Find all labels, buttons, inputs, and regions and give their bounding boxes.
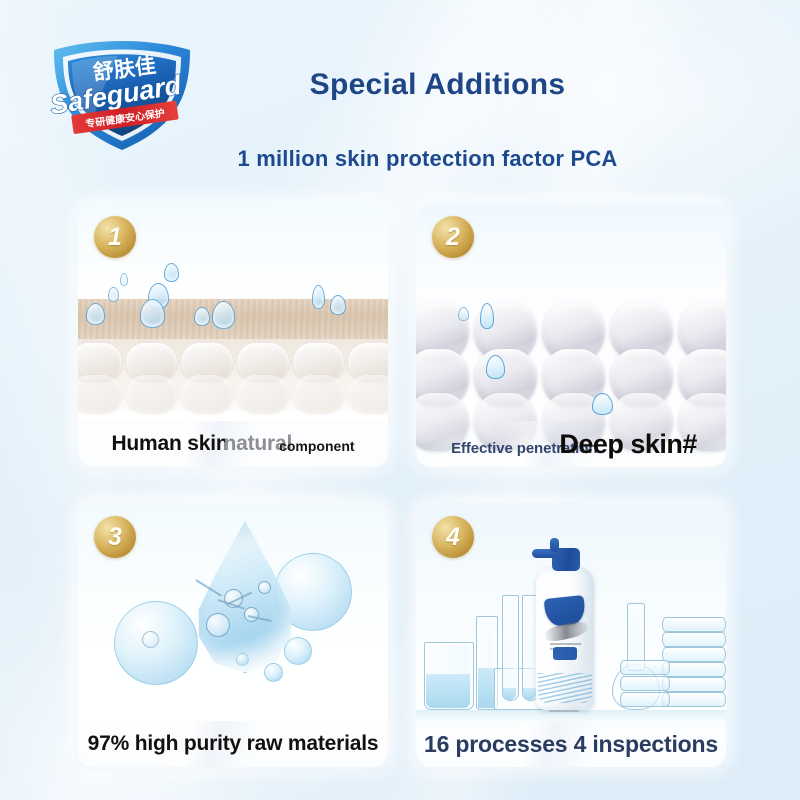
caption-primary: Deep skin#	[559, 429, 697, 460]
card-caption-bar: Human skin natural component	[78, 421, 388, 467]
card-number-badge: 3	[94, 516, 136, 558]
feature-card-grid: 1 Human skin natural component	[78, 203, 726, 751]
caption-primary: Human skin	[111, 432, 228, 456]
caption-primary: 16 processes 4 inspections	[424, 731, 718, 758]
feature-card-3[interactable]: 3 97% high purity raw materials	[78, 503, 388, 767]
card-caption-bar: Effective penetration Deep skin#	[416, 421, 726, 467]
feature-card-1[interactable]: 1 Human skin natural component	[78, 203, 388, 467]
card-number-badge: 4	[432, 516, 474, 558]
product-infographic-page: 舒肤佳 Safeguard 专研健康安心保护 Special Additions…	[0, 0, 800, 800]
test-tube-icon	[502, 595, 519, 701]
caption-tertiary: component	[279, 438, 354, 454]
card-caption-bar: 16 processes 4 inspections	[416, 721, 726, 767]
card-number-badge: 2	[432, 216, 474, 258]
feature-card-2[interactable]: 2 Effective penetration Deep skin#	[416, 203, 726, 467]
page-subtitle: 1 million skin protection factor PCA	[0, 146, 800, 172]
card-number-badge: 1	[94, 216, 136, 258]
petri-dish-icon	[662, 692, 726, 707]
caption-primary: 97% high purity raw materials	[88, 732, 379, 756]
card-caption-bar: 97% high purity raw materials	[78, 721, 388, 767]
feature-card-4[interactable]: 4 16 processes 4 inspections	[416, 503, 726, 767]
page-title: Special Additions	[0, 68, 800, 102]
